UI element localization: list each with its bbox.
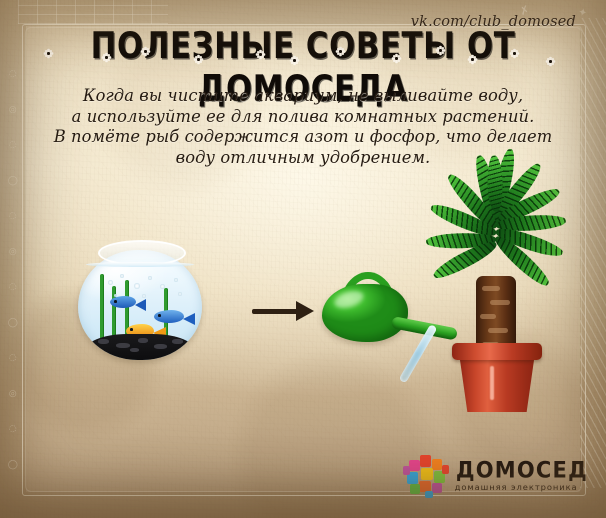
vignette-overlay bbox=[0, 0, 606, 518]
poster-canvas: ◌ ◎ ◌ ◯ ◌ ◎ ◌ ◯ ◌ ◎ ◌ ◯ ✗ ✦ vk.com/club_… bbox=[0, 0, 606, 518]
